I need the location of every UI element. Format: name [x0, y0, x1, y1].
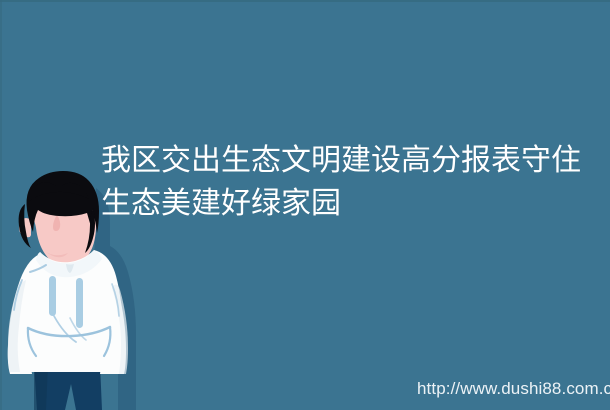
- watermark-url: http://www.dushi88.com.cn: [417, 379, 610, 399]
- canvas-top-edge-line: [0, 0, 610, 2]
- page-title: 我区交出生态文明建设高分报表守住生态美建好绿家园: [101, 139, 601, 225]
- hoodie: [8, 250, 128, 374]
- image-canvas: 我区交出生态文明建设高分报表守住生态美建好绿家园 http://www.dush…: [0, 0, 610, 410]
